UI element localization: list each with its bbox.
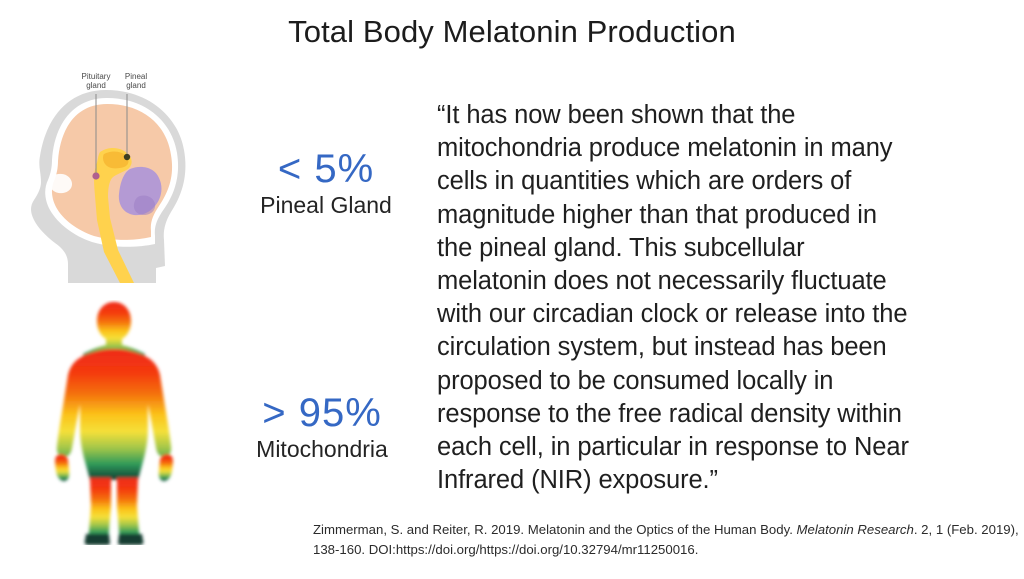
- citation-journal: Melatonin Research: [797, 522, 914, 537]
- head-anatomy-svg: Pituitary gland Pineal gland: [8, 68, 218, 283]
- quote-line: Infrared (NIR) exposure.”: [437, 464, 983, 497]
- page-title: Total Body Melatonin Production: [0, 14, 1024, 50]
- quote-line: mitochondria produce melatonin in many: [437, 132, 983, 165]
- quote-line: magnitude higher than that produced in: [437, 199, 983, 232]
- citation: Zimmerman, S. and Reiter, R. 2019. Melat…: [313, 520, 1019, 560]
- quote-line: circulation system, but instead has been: [437, 331, 983, 364]
- stat-mitochondria-value: > 95%: [216, 392, 428, 434]
- body-silhouette-shape: [55, 302, 173, 545]
- stat-pineal-value: < 5%: [228, 148, 424, 190]
- quote-line: response to the free radical density wit…: [437, 398, 983, 431]
- body-thermal-svg: [14, 300, 214, 545]
- stat-pineal-gland: < 5% Pineal Gland: [228, 148, 424, 220]
- slide-canvas: Total Body Melatonin Production: [0, 0, 1024, 579]
- pineal-gland-label-line1: Pineal: [125, 72, 147, 81]
- quote-line: each cell, in particular in response to …: [437, 431, 983, 464]
- quote-line: with our circadian clock or release into…: [437, 298, 983, 331]
- stat-mitochondria-label: Mitochondria: [216, 436, 428, 464]
- quote-line: proposed to be consumed locally in: [437, 365, 983, 398]
- citation-authors-title: Zimmerman, S. and Reiter, R. 2019. Melat…: [313, 522, 797, 537]
- pituitary-gland-label-line2: gland: [86, 81, 106, 90]
- stat-pineal-label: Pineal Gland: [228, 192, 424, 220]
- pineal-gland-marker: [124, 154, 130, 160]
- quote-line: cells in quantities which are orders of: [437, 165, 983, 198]
- quote-line: “It has now been shown that the: [437, 99, 983, 132]
- pituitary-gland-label-line1: Pituitary: [82, 72, 111, 81]
- quote-line: melatonin does not necessarily fluctuate: [437, 265, 983, 298]
- pineal-gland-label-line2: gland: [126, 81, 146, 90]
- quote-block: “It has now been shown that the mitochon…: [437, 99, 983, 497]
- quote-line: the pineal gland. This subcellular: [437, 232, 983, 265]
- stat-mitochondria: > 95% Mitochondria: [216, 392, 428, 464]
- head-anatomy-figure: Pituitary gland Pineal gland: [8, 68, 218, 283]
- pituitary-gland-marker: [92, 172, 99, 179]
- body-thermal-figure: © publicdomainvectors.org: [14, 300, 214, 565]
